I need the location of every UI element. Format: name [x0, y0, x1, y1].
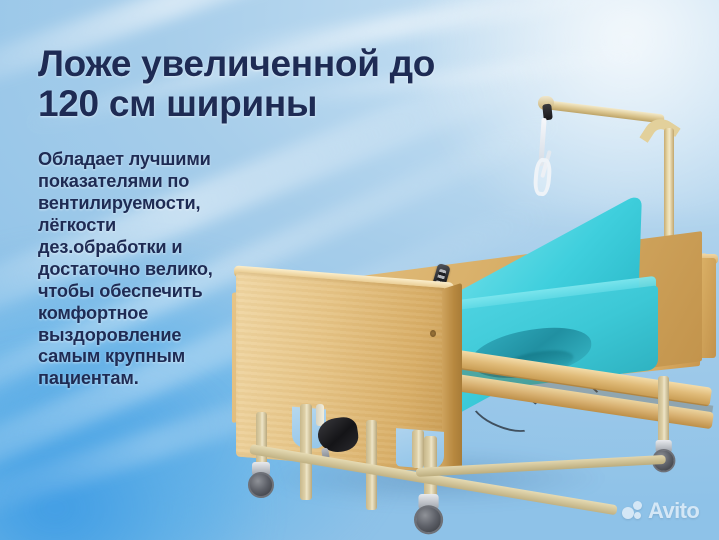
avito-circle-medium: [633, 501, 642, 510]
trapeze-strap-loop: [532, 157, 552, 196]
bed-leg: [412, 430, 424, 468]
caster-tire: [248, 472, 274, 498]
avito-wordmark: Avito: [648, 500, 699, 522]
avito-circle-small: [634, 512, 641, 519]
headboard-side-edge: [442, 283, 462, 475]
avito-watermark: Avito: [622, 500, 699, 522]
avito-circle-large: [622, 507, 634, 519]
headline-title: Ложе увеличенной до 120 см ширины: [38, 44, 468, 124]
trapeze-horizontal-arm: [544, 100, 664, 124]
caster-tire: [414, 505, 443, 534]
avito-logo-icon: [622, 501, 643, 522]
bed-leg: [658, 376, 669, 450]
advertisement-image: Ложе увеличенной до 120 см ширины Облада…: [0, 0, 719, 540]
body-description: Обладает лучшими показателями по вентили…: [38, 149, 253, 390]
headboard-fastener: [430, 330, 436, 337]
